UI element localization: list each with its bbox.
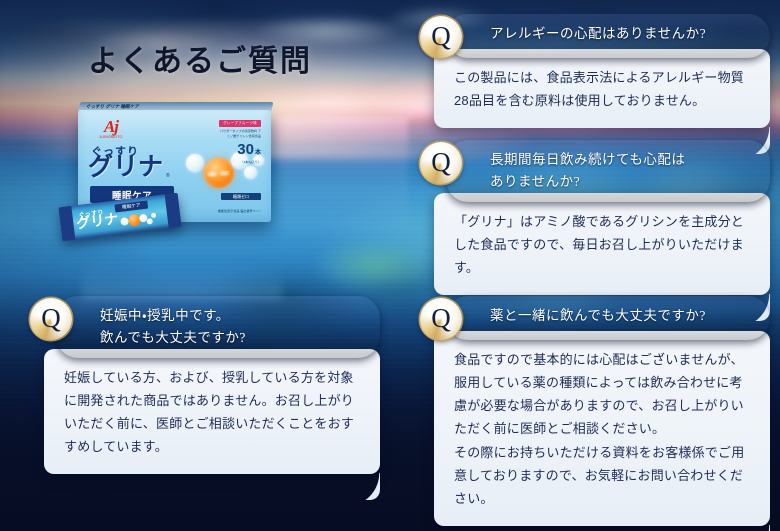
registered-mark: ® (166, 173, 170, 179)
molecule-node-1 (186, 154, 204, 172)
stick-molecule-node-3 (146, 218, 153, 225)
faq-item-allergy[interactable]: Q アレルギーの心配はありませんか? この製品には、食品表示法によるアレルギー物… (420, 14, 770, 128)
stick-end-left (58, 206, 75, 241)
faq-answer-text: 食品ですので基本的には心配はございませんが、服用している薬の種類によっては飲み合… (454, 348, 750, 510)
ajinomoto-wordmark: AJINOMOTO (99, 135, 122, 139)
question-badge-icon: Q (30, 298, 72, 340)
faq-question-text: 長期間毎日飲み続けても心配は ありませんか? (490, 149, 750, 193)
page-title: よくあるご質問 (88, 36, 312, 80)
product-reflection (82, 258, 282, 300)
faq-answer-text: 妊娠している方、および、授乳している方を対象に開発された商品ではありません。お召… (64, 366, 360, 459)
question-badge-letter: Q (41, 305, 61, 332)
faq-question-text: 薬と一緒に飲んでも大丈夫ですか? (490, 305, 750, 327)
sugar-free-badge: 糖類ゼロ (221, 193, 261, 200)
faq-answer-bubble: 妊娠している方、および、授乳している方を対象に開発された商品ではありません。お召… (44, 349, 380, 475)
faq-question-row[interactable]: Q アレルギーの心配はありませんか? (420, 14, 770, 58)
product-stick-sachet: ぐっすり グリナ 睡眠ケア (58, 193, 181, 241)
stick-count-number: 30 (237, 144, 254, 157)
molecule-node-3 (244, 166, 257, 179)
product-name: グリナ (88, 155, 163, 180)
faq-answer-bubble: 「グリナ」はアミノ酸であるグリシンを主成分とした食品ですので、毎日お召し上がりい… (434, 193, 770, 295)
faq-item-medicine[interactable]: Q 薬と一緒に飲んでも大丈夫ですか? 食品ですので基本的には心配はございませんが… (420, 296, 770, 526)
faq-question-bar[interactable]: 長期間毎日飲み続けても心配は ありませんか? (446, 140, 770, 202)
faq-answer-text: 「グリナ」はアミノ酸であるグリシンを主成分とした食品ですので、毎日お召し上がりい… (454, 210, 750, 279)
product-image: ぐっすり グリナ 睡眠ケア Aj AJINOMOTO ぐっすり グリナ ® 睡眠… (60, 108, 290, 263)
question-badge-letter: Q (431, 305, 451, 332)
stick-count-unit: 本 (255, 147, 261, 157)
faq-answer-bubble: 食品ですので基本的には心配はございませんが、服用している薬の種類によっては飲み合… (434, 331, 770, 526)
faq-question-row[interactable]: Q 長期間毎日飲み続けても心配は ありませんか? (420, 140, 770, 202)
faq-question-bar[interactable]: 薬と一緒に飲んでも大丈夫ですか? (446, 296, 770, 340)
flavor-tag: グレープフルーツ味 (219, 120, 261, 127)
faq-question-row[interactable]: Q 薬と一緒に飲んでも大丈夫ですか? (420, 296, 770, 340)
question-badge-icon: Q (420, 298, 462, 340)
product-fine-print: パウダータイプの清涼飲料 アミノ酸グリシン含有食品 (217, 129, 261, 138)
faq-question-bar[interactable]: 妊娠中・授乳中です。 飲んでも大丈夫ですか? (56, 296, 380, 358)
ajinomoto-logo: Aj AJINOMOTO (90, 118, 132, 140)
faq-page: よくあるご質問 ぐっすり グリナ 睡眠ケア Aj AJINOMOTO ぐっすり … (0, 0, 780, 531)
faq-answer-bubble: この製品には、食品表示法によるアレルギー物質28品目を含む原料は使用しておりませ… (434, 49, 770, 128)
ajinomoto-mark: Aj (104, 119, 118, 134)
faq-question-bar[interactable]: アレルギーの心配はありませんか? (446, 14, 770, 58)
faq-question-text: 妊娠中・授乳中です。 飲んでも大丈夫ですか? (100, 305, 360, 349)
stick-name: グリナ (76, 211, 119, 230)
faq-item-long-term[interactable]: Q 長期間毎日飲み続けても心配は ありませんか? 「グリナ」はアミノ酸であるグリ… (420, 140, 770, 295)
question-badge-letter: Q (431, 149, 451, 176)
faq-question-row[interactable]: Q 妊娠中・授乳中です。 飲んでも大丈夫ですか? (30, 296, 380, 358)
stick-count: 30 本 (217, 144, 261, 157)
faq-answer-text: この製品には、食品表示法によるアレルギー物質28品目を含む原料は使用しておりませ… (454, 66, 750, 112)
stick-molecule-graphic (120, 210, 161, 229)
question-badge-icon: Q (420, 142, 462, 184)
faq-item-pregnancy[interactable]: Q 妊娠中・授乳中です。 飲んでも大丈夫ですか? 妊娠している方、および、授乳し… (30, 296, 380, 474)
stick-molecule-node-4 (151, 213, 157, 219)
stick-count-note: （1本3g入り） (217, 159, 261, 164)
question-badge-letter: Q (431, 23, 451, 50)
faq-question-text: アレルギーの心配はありませんか? (490, 23, 750, 45)
stick-care-badge: 睡眠ケア (114, 201, 148, 213)
question-badge-icon: Q (420, 16, 462, 58)
food-claim-note: 機能性表示食品 届出番号 F○○○ (217, 209, 261, 213)
